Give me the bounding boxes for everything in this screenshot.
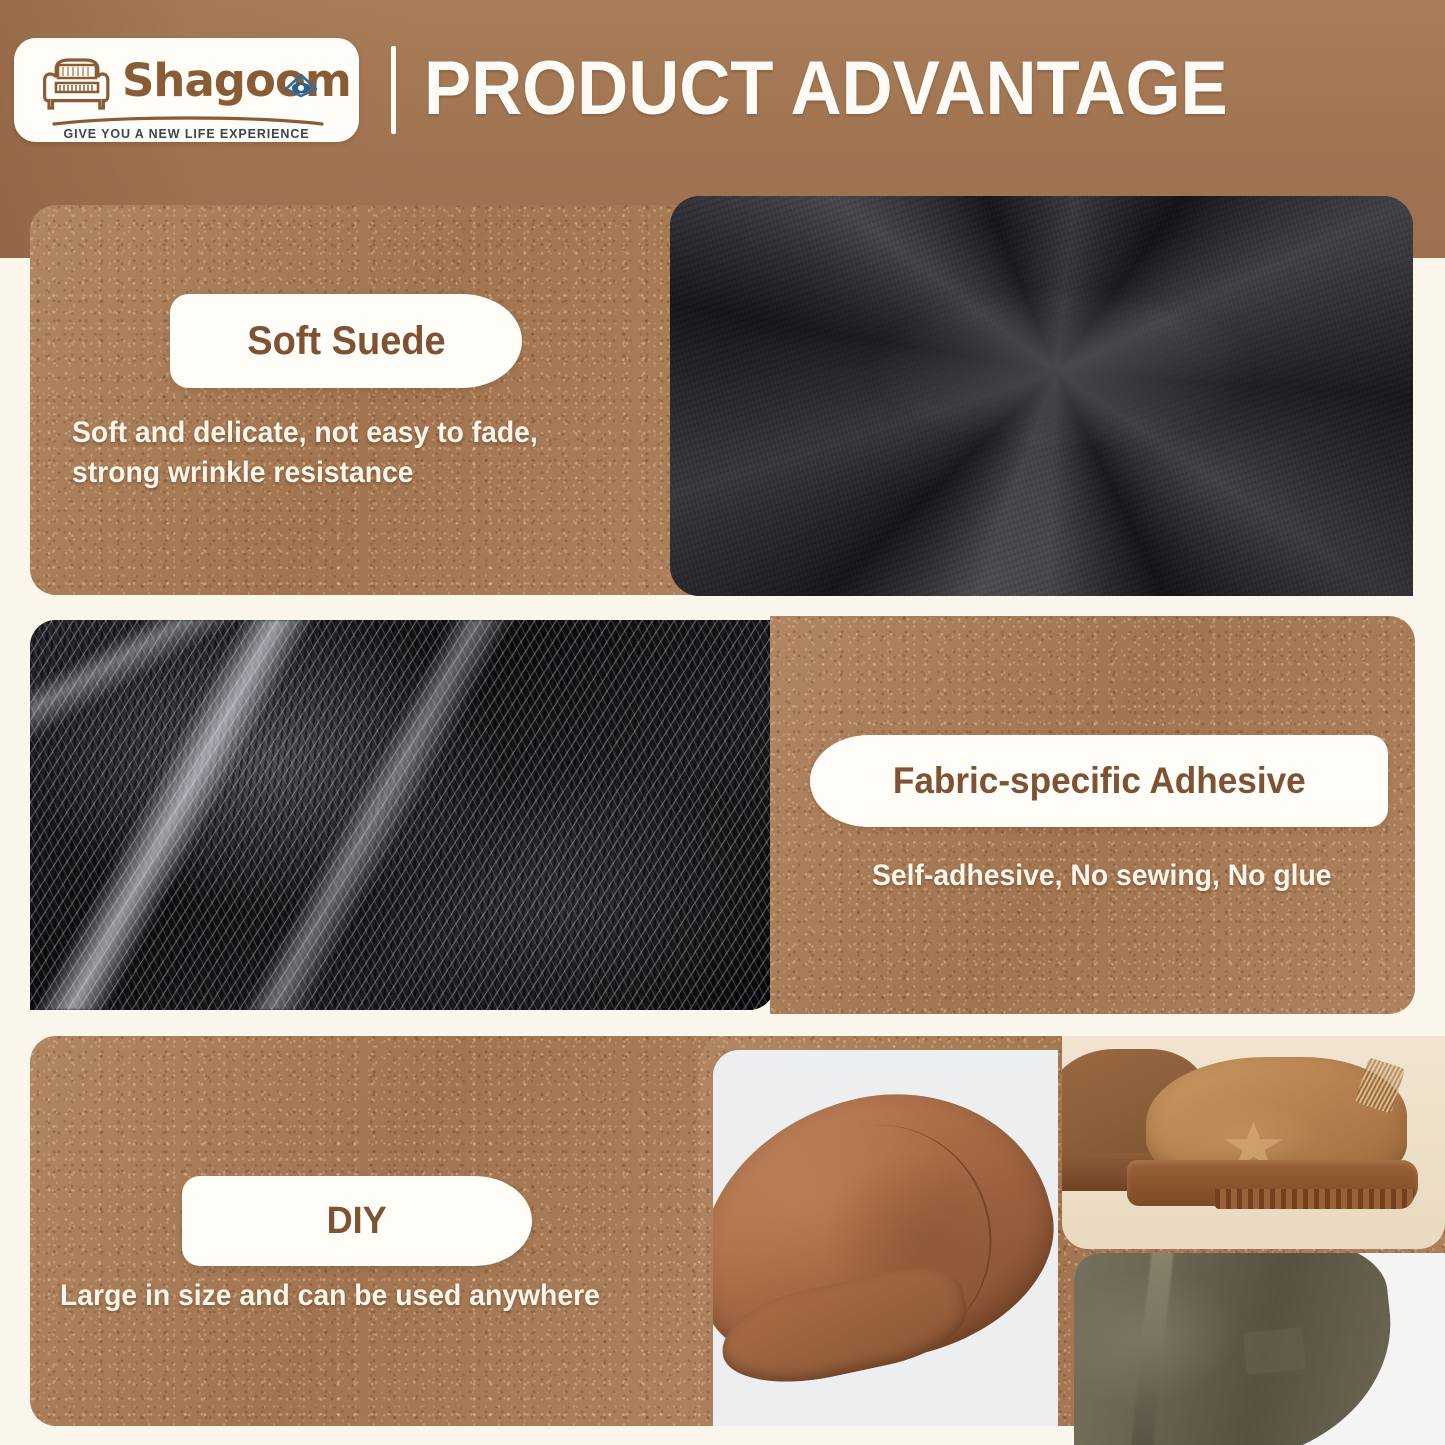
product-advantage-infographic: Shagoom GIVE YOU A NEW LIFE EXPERIENCE P…	[0, 0, 1445, 1445]
feature-description-fabric-specific-adhesive: Self-adhesive, No sewing, No glue	[833, 856, 1371, 896]
logo-underline-swoosh	[52, 116, 324, 126]
boot-tread-shape	[1215, 1189, 1414, 1208]
feature-description-soft-suede: Soft and delicate, not easy to fade, str…	[72, 413, 667, 492]
feature-photo-fabric-specific-adhesive	[30, 620, 775, 1010]
feature-card-soft-suede	[30, 205, 770, 595]
armchair-icon	[40, 56, 114, 114]
black-fabric-adhesive-backing-photo	[30, 620, 775, 1010]
feature-description-line: Self-adhesive, No sewing, No glue	[833, 856, 1371, 896]
feature-title-badge-fabric-specific-adhesive: Fabric-specific Adhesive	[810, 735, 1388, 827]
feature-title-soft-suede: Soft Suede	[247, 319, 445, 364]
brand-tagline: GIVE YOU A NEW LIFE EXPERIENCE	[14, 127, 359, 141]
black-suede-fabric-swirl-photo	[670, 196, 1413, 596]
feature-title-diy: DIY	[327, 1200, 387, 1243]
page-title: PRODUCT ADVANTAGE	[424, 36, 1228, 140]
feature-description-line: Large in size and can be used anywhere	[60, 1276, 694, 1316]
brand-logo: Shagoom GIVE YOU A NEW LIFE EXPERIENCE	[14, 38, 359, 142]
feature-title-badge-soft-suede: Soft Suede	[170, 294, 522, 388]
garment-pocket-patch	[1243, 1327, 1306, 1375]
feature-description-line: strong wrinkle resistance	[72, 453, 667, 493]
eye-diamond-icon	[284, 72, 318, 98]
feature-photo-diy-cap	[713, 1050, 1058, 1426]
feature-photo-soft-suede	[670, 196, 1413, 596]
brown-suede-flat-cap-photo	[713, 1050, 1058, 1426]
header-divider	[391, 46, 396, 134]
feature-description-line: Soft and delicate, not easy to fade,	[72, 413, 667, 453]
feature-description-diy: Large in size and can be used anywhere	[60, 1276, 694, 1316]
garment-body-shape	[1074, 1253, 1404, 1445]
feature-title-fabric-specific-adhesive: Fabric-specific Adhesive	[893, 760, 1306, 802]
olive-suede-garment-photo	[1074, 1253, 1445, 1445]
feature-photo-diy-garment	[1074, 1253, 1445, 1445]
feature-photo-diy-boot	[1062, 1036, 1445, 1249]
feature-title-badge-diy: DIY	[182, 1176, 532, 1266]
tan-suede-platform-boot-photo	[1062, 1036, 1445, 1249]
